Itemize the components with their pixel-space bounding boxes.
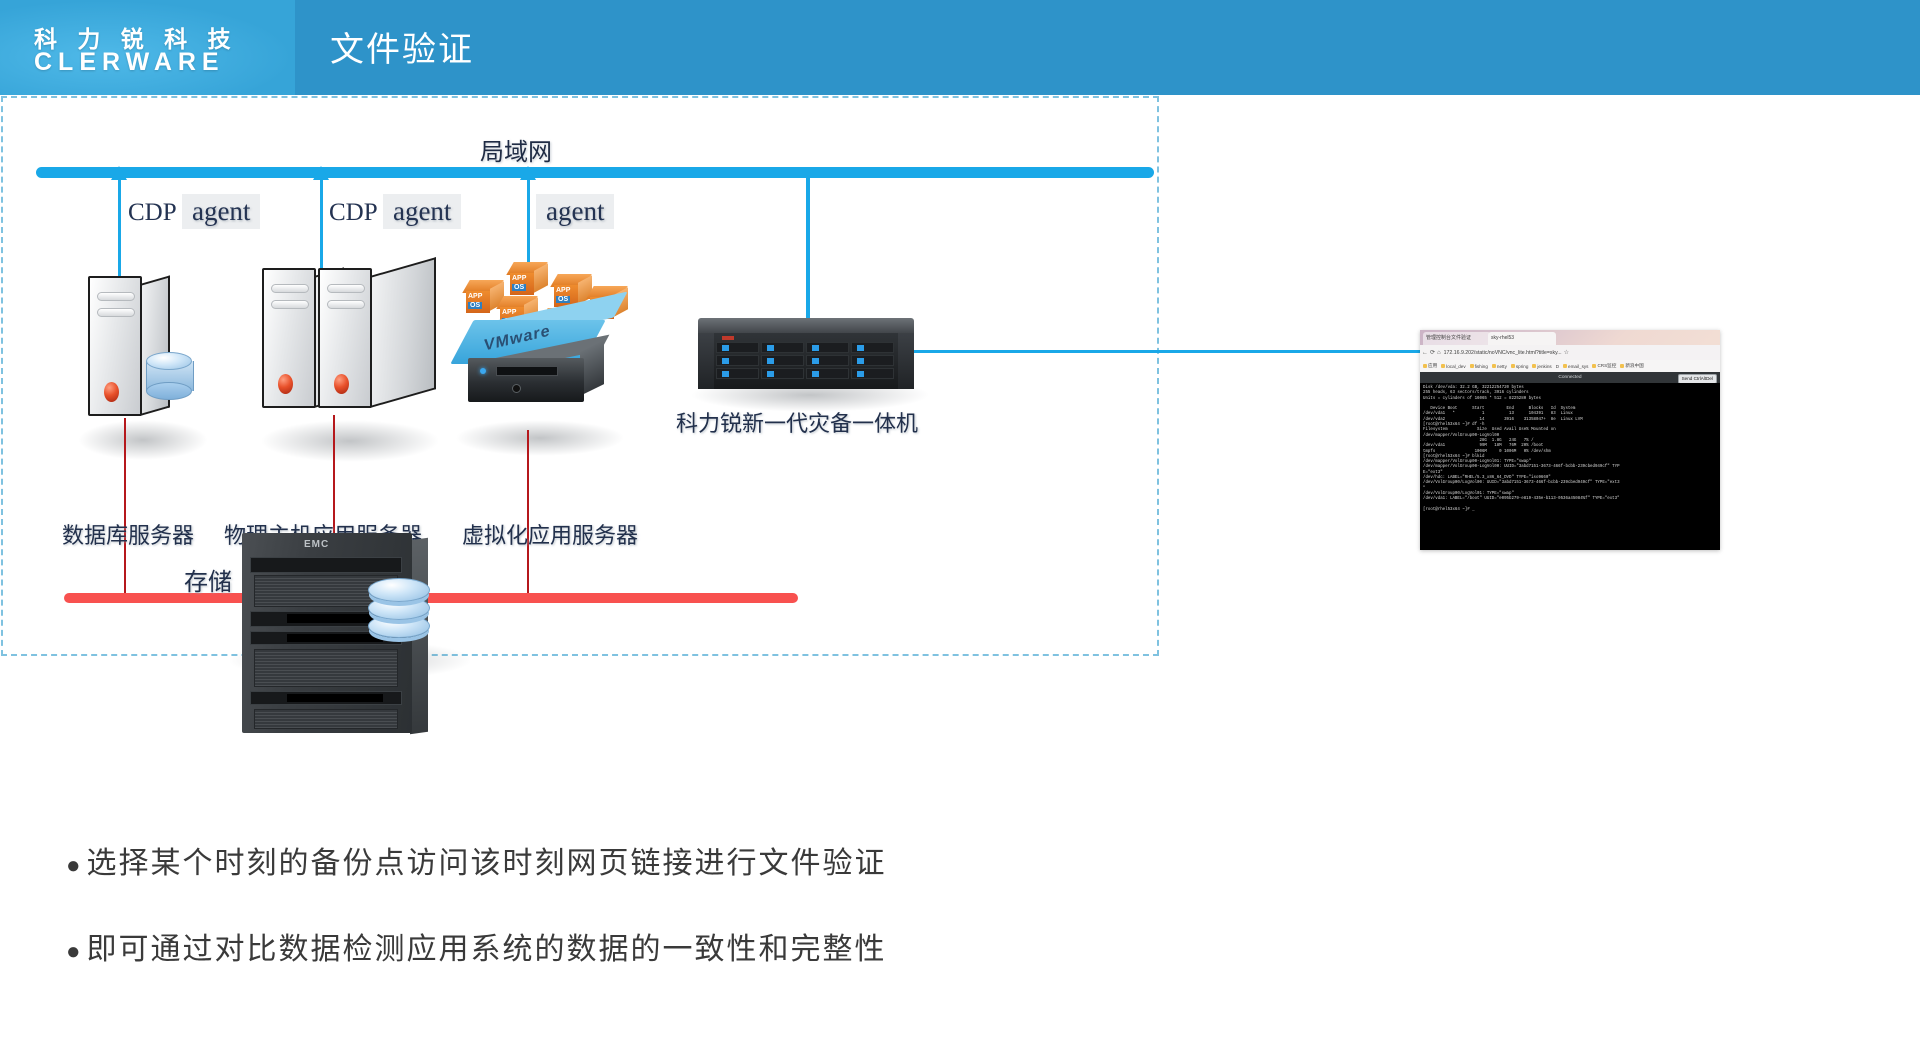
app-header: 科 力 锐 科 技 CLERWARE 文件验证	[0, 0, 1920, 95]
brand-block: 科 力 锐 科 技 CLERWARE	[0, 0, 295, 95]
vm-tag-app: APP	[512, 275, 526, 282]
tower-front	[88, 276, 142, 416]
bullet-marker: ●	[66, 939, 83, 965]
browser-bookmarks-bar[interactable]: 应用 local_dev fishing netty spring jenkin…	[1420, 360, 1720, 372]
host-led	[480, 368, 486, 374]
disk-disc	[368, 578, 430, 602]
san-line-vmware	[527, 430, 529, 596]
device-label-database: 数据库服务器	[62, 518, 194, 550]
bullet-text: 选择某个时刻的备份点访问该时刻网页链接进行文件验证	[87, 847, 887, 880]
lan-label: 局域网	[480, 132, 552, 167]
vm-box: APP OS	[510, 262, 548, 296]
bookmark-item[interactable]: fishing	[1470, 364, 1488, 369]
bullet-text: 即可通过对比数据检测应用系统的数据的一致性和完整性	[87, 933, 887, 966]
agent-label-2: CDP agent	[329, 196, 461, 227]
bookmark-item[interactable]: netty	[1492, 364, 1507, 369]
tower-bay	[271, 284, 309, 293]
tower-front	[318, 268, 372, 408]
agent-label-1: CDP agent	[128, 196, 260, 227]
drive-bay	[851, 355, 894, 366]
vnc-toolbar: Connected Send CtrlAltDel	[1420, 372, 1720, 383]
logo-english: CLERWARE	[34, 48, 225, 77]
storage-unit-badge	[287, 634, 383, 642]
tower-bay	[327, 300, 365, 309]
bookmark-item[interactable]: local_dev	[1441, 364, 1465, 369]
cylinder-bottom	[146, 382, 192, 400]
tower-front	[262, 268, 316, 408]
tower-bay	[327, 284, 365, 293]
drive-bay	[806, 342, 849, 353]
lan-bus	[36, 167, 1154, 178]
host-drive-slot	[496, 366, 558, 376]
agent-name-1: agent	[182, 194, 260, 229]
bookmark-item[interactable]: jenkins	[1532, 364, 1551, 369]
drive-bay	[716, 368, 759, 379]
device-label-virtual-host: 虚拟化应用服务器	[462, 518, 638, 550]
vm-tag-os: OS	[468, 302, 482, 309]
bookmark-item[interactable]: spring	[1511, 364, 1529, 369]
vm-tag-app: APP	[556, 287, 570, 294]
drive-bay	[806, 368, 849, 379]
drive-bay	[716, 342, 759, 353]
vnc-terminal[interactable]: Disk /dev/vda: 32.2 GB, 32212254720 byte…	[1420, 383, 1720, 550]
bookmark-item[interactable]: D	[1556, 364, 1559, 369]
host-server-shadow	[260, 420, 440, 462]
vmware-host-icon	[468, 358, 584, 402]
appliance-left-ear	[698, 333, 714, 389]
storage-mesh	[254, 649, 398, 687]
agent-name-2: agent	[383, 194, 461, 229]
cylinder-top	[146, 352, 192, 370]
vm-tag-app: APP	[502, 309, 516, 316]
page-title: 文件验证	[330, 22, 474, 71]
url-text[interactable]: 172.16.9.202/static/noVNC/vnc_lite.html?…	[1444, 350, 1562, 356]
browser-urlbar[interactable]: ← ⟳ ⌂ 172.16.9.202/static/noVNC/vnc_lite…	[1420, 345, 1720, 360]
browser-screenshot[interactable]: 管理控制台文件验证 sky-rhel53 ← ⟳ ⌂ 172.16.9.202/…	[1420, 330, 1720, 550]
storage-unit	[250, 691, 402, 705]
send-ctrl-alt-del-button[interactable]: Send CtrlAltDel	[1678, 374, 1717, 384]
drive-bay	[761, 368, 804, 379]
tower-bay	[97, 308, 135, 317]
storage-label: 存储	[184, 562, 232, 597]
vmware-shadow	[455, 420, 625, 456]
drive-bay	[851, 368, 894, 379]
browser-chrome: 管理控制台文件验证 sky-rhel53 ← ⟳ ⌂ 172.16.9.202/…	[1420, 330, 1720, 378]
appliance-top-panel	[698, 318, 914, 334]
browser-tab-2[interactable]: sky-rhel53	[1488, 332, 1556, 345]
storage-unit-badge	[287, 694, 383, 702]
tower-side	[370, 257, 436, 408]
tower-power-led	[278, 374, 293, 394]
back-icon[interactable]: ←	[1422, 350, 1428, 356]
agent-label-3: agent	[536, 196, 614, 227]
vnc-status-text: Connected	[1558, 375, 1581, 380]
vm-tag-app: APP	[468, 293, 482, 300]
vm-tag-os: OS	[512, 284, 526, 291]
drive-bay	[761, 342, 804, 353]
bookmark-item[interactable]: 应用	[1423, 363, 1437, 369]
san-bus	[64, 593, 798, 603]
storage-unit	[250, 557, 402, 573]
bullet-item-2: ●即可通过对比数据检测应用系统的数据的一致性和完整性	[66, 924, 1566, 968]
host-power-button	[512, 384, 521, 393]
bullet-list: ●选择某个时刻的备份点访问该时刻网页链接进行文件验证 ●即可通过对比数据检测应用…	[66, 838, 1566, 1010]
db-server-shadow	[78, 420, 208, 460]
tower-power-led	[334, 374, 349, 394]
appliance-drive-grid	[716, 336, 896, 386]
drive-bay	[761, 355, 804, 366]
drive-bay	[716, 355, 759, 366]
san-line-db	[124, 418, 126, 596]
appliance-to-browser-arrow	[906, 350, 1454, 353]
appliance-right-ear	[898, 333, 914, 389]
browser-tab-1[interactable]: 管理控制台文件验证	[1423, 332, 1491, 345]
bookmark-item[interactable]: CRS监控	[1592, 363, 1616, 369]
lan-arrow-db	[118, 178, 121, 286]
storage-mesh	[254, 709, 398, 729]
reload-icon[interactable]: ⟳	[1430, 349, 1435, 356]
drive-bay	[806, 355, 849, 366]
bookmark-item[interactable]: 新浪中国	[1620, 363, 1643, 369]
bullet-item-1: ●选择某个时刻的备份点访问该时刻网页链接进行文件验证	[66, 838, 1566, 882]
storage-brand-label: EMC	[304, 539, 329, 550]
agent-prefix-2: CDP	[329, 199, 377, 226]
tower-power-led	[104, 382, 119, 402]
agent-name-3: agent	[536, 194, 614, 229]
appliance-label: 科力锐新一代灾备一体机	[676, 406, 918, 438]
star-icon[interactable]: ☆	[1564, 349, 1569, 356]
bookmark-item[interactable]: email_sys	[1563, 364, 1588, 369]
agent-prefix-1: CDP	[128, 199, 176, 226]
tower-bay	[271, 300, 309, 309]
bullet-marker: ●	[66, 853, 83, 879]
terminal-output: Disk /dev/vda: 32.2 GB, 32212254720 byte…	[1423, 386, 1717, 513]
browser-tabbar: 管理控制台文件验证 sky-rhel53	[1420, 330, 1720, 345]
tower-bay	[97, 292, 135, 301]
home-icon[interactable]: ⌂	[1437, 350, 1441, 356]
vm-tag-os: OS	[556, 296, 570, 303]
drive-bay	[851, 342, 894, 353]
